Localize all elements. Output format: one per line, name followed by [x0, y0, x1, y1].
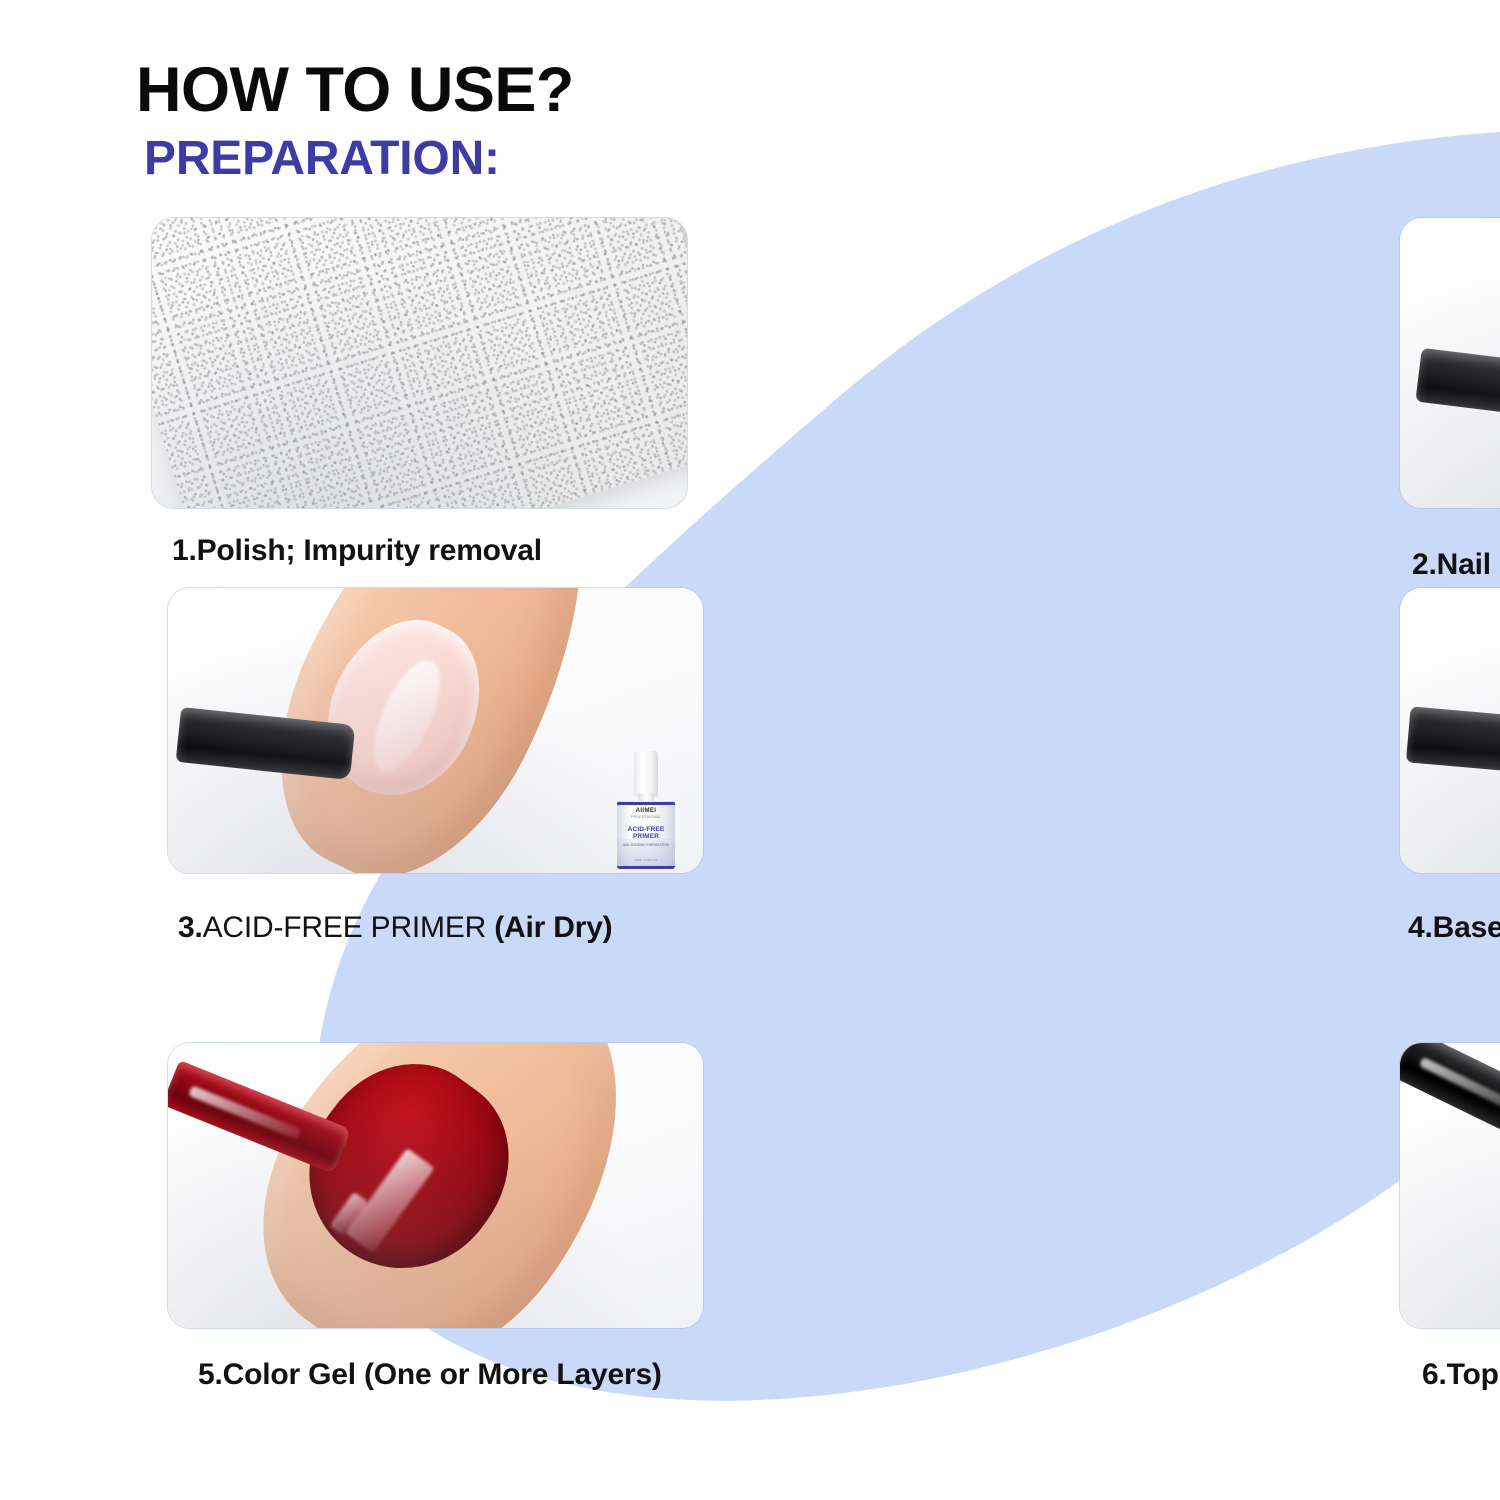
step-text-4: Base Coat: [1433, 911, 1500, 944]
step-card-4: 4.Base Coat: [745, 588, 1500, 1043]
step-image-4: [1400, 588, 1500, 873]
step-number-6: 6.: [1422, 1358, 1447, 1391]
steps-row-3: 5.Color Gel (One or More Layers) 6.Top C…: [0, 1043, 1500, 1463]
step-text-2: Nail Pre Dehdrator (Air Dry): [1437, 548, 1500, 581]
step-card-6: 6.Top Coat: [745, 1043, 1500, 1463]
step-caption-1: 1.Polish; Impurity removal: [172, 534, 745, 568]
step-text-3: ACID-FREE PRIMER: [203, 911, 495, 944]
photo-shadow: [1400, 1043, 1500, 1328]
steps-row-1: 1.Polish; Impurity removal: [0, 218, 1500, 588]
photo-shadow: [168, 588, 703, 873]
step-card-2: AIIMEI PROFESSIONAL NAIL PREP DEHYDRATOR…: [745, 218, 1500, 588]
step-caption-3: 3.ACID-FREE PRIMER (Air Dry): [178, 911, 745, 945]
step-image-3: AIIMEI PROFESSIONAL ACID-FREE PRIMER NAI…: [168, 588, 703, 873]
page-title: HOW TO USE?: [136, 58, 574, 122]
step-number-5: 5.: [198, 1358, 223, 1391]
photo-shadow: [1400, 218, 1500, 508]
step-image-1: [152, 218, 687, 508]
page-header: HOW TO USE? PREPARATION:: [136, 58, 574, 185]
step-caption-2: 2.Nail Pre Dehdrator (Air Dry): [1412, 548, 1500, 582]
photo-shadow: [168, 1043, 703, 1328]
step-caption-5: 5.Color Gel (One or More Layers): [198, 1358, 745, 1392]
step-card-5: 5.Color Gel (One or More Layers): [0, 1043, 745, 1463]
steps-grid: 1.Polish; Impurity removal: [0, 218, 1500, 1463]
step-text-5: Color Gel (One or More Layers): [223, 1358, 662, 1391]
step-number-4: 4.: [1408, 911, 1433, 944]
step-number-3: 3.: [178, 911, 203, 944]
photo-shadow: [152, 218, 687, 508]
page-subtitle: PREPARATION:: [144, 134, 574, 184]
step-text-3-bold: (Air Dry): [494, 911, 612, 944]
step-image-6: [1400, 1043, 1500, 1328]
step-number-1: 1.: [172, 534, 197, 567]
steps-row-2: AIIMEI PROFESSIONAL ACID-FREE PRIMER NAI…: [0, 588, 1500, 1043]
step-card-3: AIIMEI PROFESSIONAL ACID-FREE PRIMER NAI…: [0, 588, 745, 1043]
step-number-2: 2.: [1412, 548, 1437, 581]
step-text-6: Top Coat: [1447, 1358, 1500, 1391]
step-image-5: [168, 1043, 703, 1328]
step-caption-6: 6.Top Coat: [1422, 1358, 1500, 1392]
step-image-2: AIIMEI PROFESSIONAL NAIL PREP DEHYDRATOR…: [1400, 218, 1500, 508]
photo-shadow: [1400, 588, 1500, 873]
step-caption-4: 4.Base Coat: [1408, 911, 1500, 945]
step-card-1: 1.Polish; Impurity removal: [0, 218, 745, 588]
step-text-1: Polish; Impurity removal: [197, 534, 542, 567]
